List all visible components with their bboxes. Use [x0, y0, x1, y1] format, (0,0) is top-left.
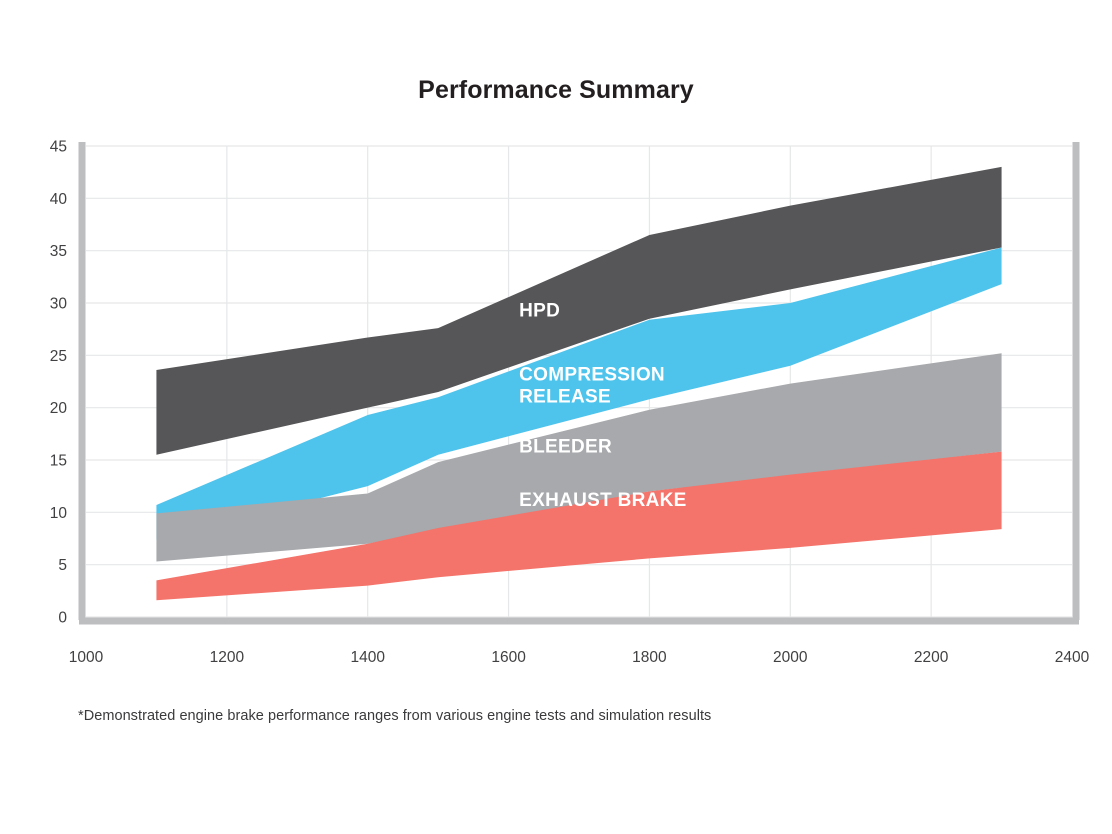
- x-axis-tick-labels: 10001200140016001800200022002400: [69, 649, 1090, 666]
- chart-canvas: 051015202530354045 100012001400160018002…: [0, 0, 1112, 700]
- y-axis-tick-label: 30: [50, 296, 68, 313]
- x-axis-tick-label: 1600: [491, 649, 526, 666]
- series-label-compression: COMPRESSION: [519, 364, 665, 385]
- footnote-text: *Demonstrated engine brake performance r…: [78, 708, 711, 724]
- performance-summary-area-chart: 051015202530354045 100012001400160018002…: [0, 0, 1112, 700]
- x-axis-tick-label: 2200: [914, 649, 949, 666]
- y-axis-tick-label: 0: [58, 610, 67, 627]
- series-label-release: RELEASE: [519, 386, 611, 407]
- x-axis-tick-label: 1200: [210, 649, 245, 666]
- x-axis-tick-label: 2400: [1055, 649, 1090, 666]
- y-axis-tick-label: 10: [50, 505, 68, 522]
- x-axis-tick-label: 1000: [69, 649, 104, 666]
- chart-page: Performance Summary 051015202530354045 1…: [0, 0, 1112, 834]
- y-axis-tick-label: 5: [58, 557, 67, 574]
- y-axis-tick-label: 40: [50, 191, 68, 208]
- y-axis-tick-labels: 051015202530354045: [50, 139, 68, 627]
- y-axis-tick-label: 15: [50, 453, 67, 470]
- x-axis-tick-label: 2000: [773, 649, 808, 666]
- series-label-hpd: HPD: [519, 301, 560, 322]
- x-axis-tick-label: 1400: [350, 649, 385, 666]
- y-axis-tick-label: 45: [50, 139, 67, 156]
- series-label-exhaust-brake: EXHAUST BRAKE: [519, 490, 687, 511]
- y-axis-tick-label: 35: [50, 243, 67, 260]
- y-axis-tick-label: 25: [50, 348, 67, 365]
- series-label-bleeder: BLEEDER: [519, 437, 612, 458]
- x-axis-tick-label: 1800: [632, 649, 667, 666]
- y-axis-tick-label: 20: [50, 400, 68, 417]
